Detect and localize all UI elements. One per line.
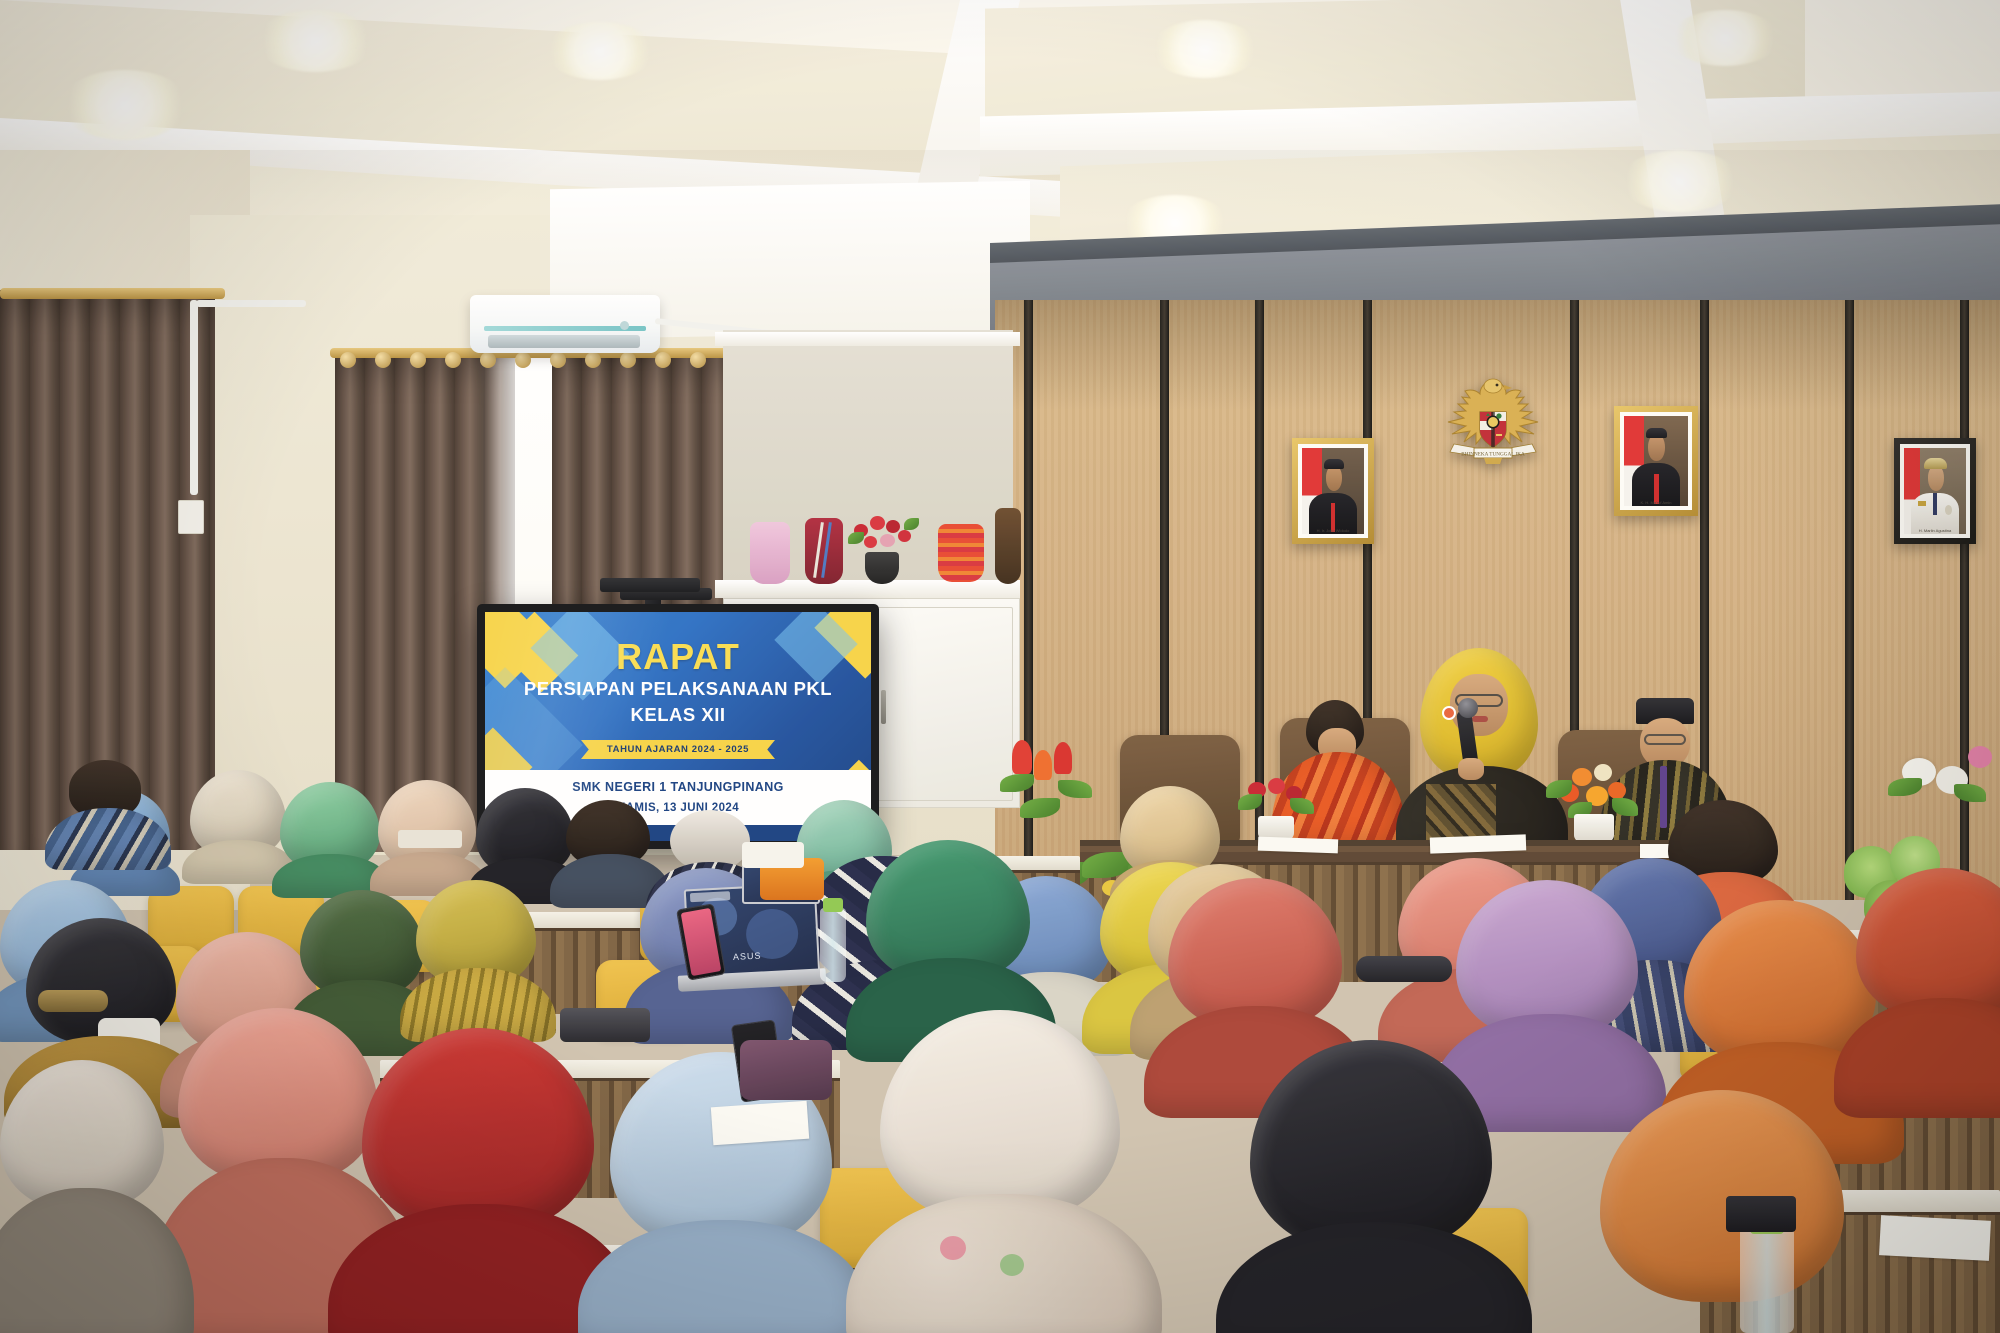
- air-conditioner-unit: [470, 295, 660, 353]
- ceiling-light-3: [545, 22, 655, 80]
- red-patterned-vase: [938, 524, 984, 582]
- ceiling-light-8: [1670, 10, 1780, 66]
- document-on-head-table: [1430, 834, 1527, 853]
- audience-member-foreground: [880, 1010, 1130, 1333]
- portrait-vice-president-caption: K. H. Ma'ruf Amin: [1624, 500, 1688, 505]
- flower-arrangement-orange: [1546, 762, 1638, 838]
- ceiling-light-2: [255, 10, 375, 72]
- wood-groove-7: [1845, 300, 1854, 900]
- ceiling-light-6: [1150, 20, 1260, 78]
- red-flower-arrangement-left: [1000, 740, 1110, 850]
- cable-coil-on-table: [1356, 956, 1452, 982]
- maroon-striped-vase: [805, 518, 843, 584]
- tissue-box: [742, 842, 804, 868]
- grommet: [375, 352, 391, 368]
- portrait-president: H. Ir. Joko Widodo: [1292, 438, 1374, 544]
- microphone-head: [1458, 698, 1478, 718]
- portrait-vice-president: K. H. Ma'ruf Amin: [1614, 406, 1698, 516]
- audience-member-foreground: [0, 1060, 170, 1333]
- hair-accessory: [38, 990, 108, 1012]
- grommet: [620, 352, 636, 368]
- grommet: [410, 352, 426, 368]
- paper-foreground: [1879, 1215, 1991, 1261]
- meeting-hall-photo: BHINNEKA TUNGGAL IKA H. Ir. Joko Widodo: [0, 0, 2000, 1333]
- grommet: [690, 352, 706, 368]
- audience-member-foreground: [362, 1028, 602, 1333]
- flower-pot-white: [1574, 814, 1614, 842]
- handbag: [740, 1040, 832, 1100]
- notebook-page: [711, 1101, 809, 1146]
- cabinet-handle-right[interactable]: [881, 690, 886, 724]
- speaker-hand: [1458, 758, 1484, 780]
- grommet: [655, 352, 671, 368]
- water-bottle-foreground[interactable]: [1740, 1228, 1794, 1333]
- grommet: [515, 352, 531, 368]
- audience-member: [1856, 868, 2000, 1108]
- curtain-rod-left: [0, 288, 225, 299]
- grommet: [445, 352, 461, 368]
- svg-text:BHINNEKA TUNGGAL IKA: BHINNEKA TUNGGAL IKA: [1461, 452, 1525, 458]
- cable-bundle: [560, 1008, 650, 1042]
- eyeglasses-on-table: [398, 830, 462, 848]
- wall-conduit-horizontal: [196, 300, 306, 307]
- projector-mount-bracket: [600, 578, 700, 592]
- audience-member-foreground: [1600, 1090, 1850, 1333]
- grommet: [340, 352, 356, 368]
- document-on-head-table-2: [1258, 837, 1338, 854]
- audience-member: [416, 880, 544, 1030]
- dark-wood-vase: [995, 508, 1021, 584]
- portrait-regional-official-caption: H. Marlin Agustina: [1904, 528, 1966, 533]
- water-bottle[interactable]: [820, 908, 846, 982]
- audience-member: [55, 760, 155, 860]
- wall-conduit-vertical: [190, 300, 198, 495]
- flower-arrangement-red: [1238, 778, 1316, 842]
- audience-member: [190, 770, 286, 870]
- ceiling-light-1: [60, 70, 190, 140]
- pink-ceramic-vase: [750, 522, 790, 584]
- audience-member: [280, 782, 380, 882]
- grommet: [550, 352, 566, 368]
- garuda-pancasila-emblem: BHINNEKA TUNGGAL IKA: [1418, 372, 1568, 464]
- speaker-lapel-pin: [1442, 706, 1456, 720]
- red-rose-arrangement: [848, 510, 918, 558]
- speaker-yellow-hijab: [1398, 648, 1564, 853]
- cabinet-door-right[interactable]: [874, 607, 1013, 801]
- tablet-device[interactable]: [1726, 1196, 1796, 1232]
- portrait-president-caption: H. Ir. Joko Widodo: [1302, 528, 1364, 533]
- grommet: [585, 352, 601, 368]
- wall-switch-plate: [178, 500, 204, 534]
- audience-member-foreground: [1250, 1040, 1500, 1333]
- ceiling-light-7: [1620, 150, 1740, 212]
- shelf-top-edge: [715, 332, 1020, 346]
- portrait-regional-official: H. Marlin Agustina: [1894, 438, 1976, 544]
- official-eyeglasses: [1644, 734, 1686, 745]
- grommet: [480, 352, 496, 368]
